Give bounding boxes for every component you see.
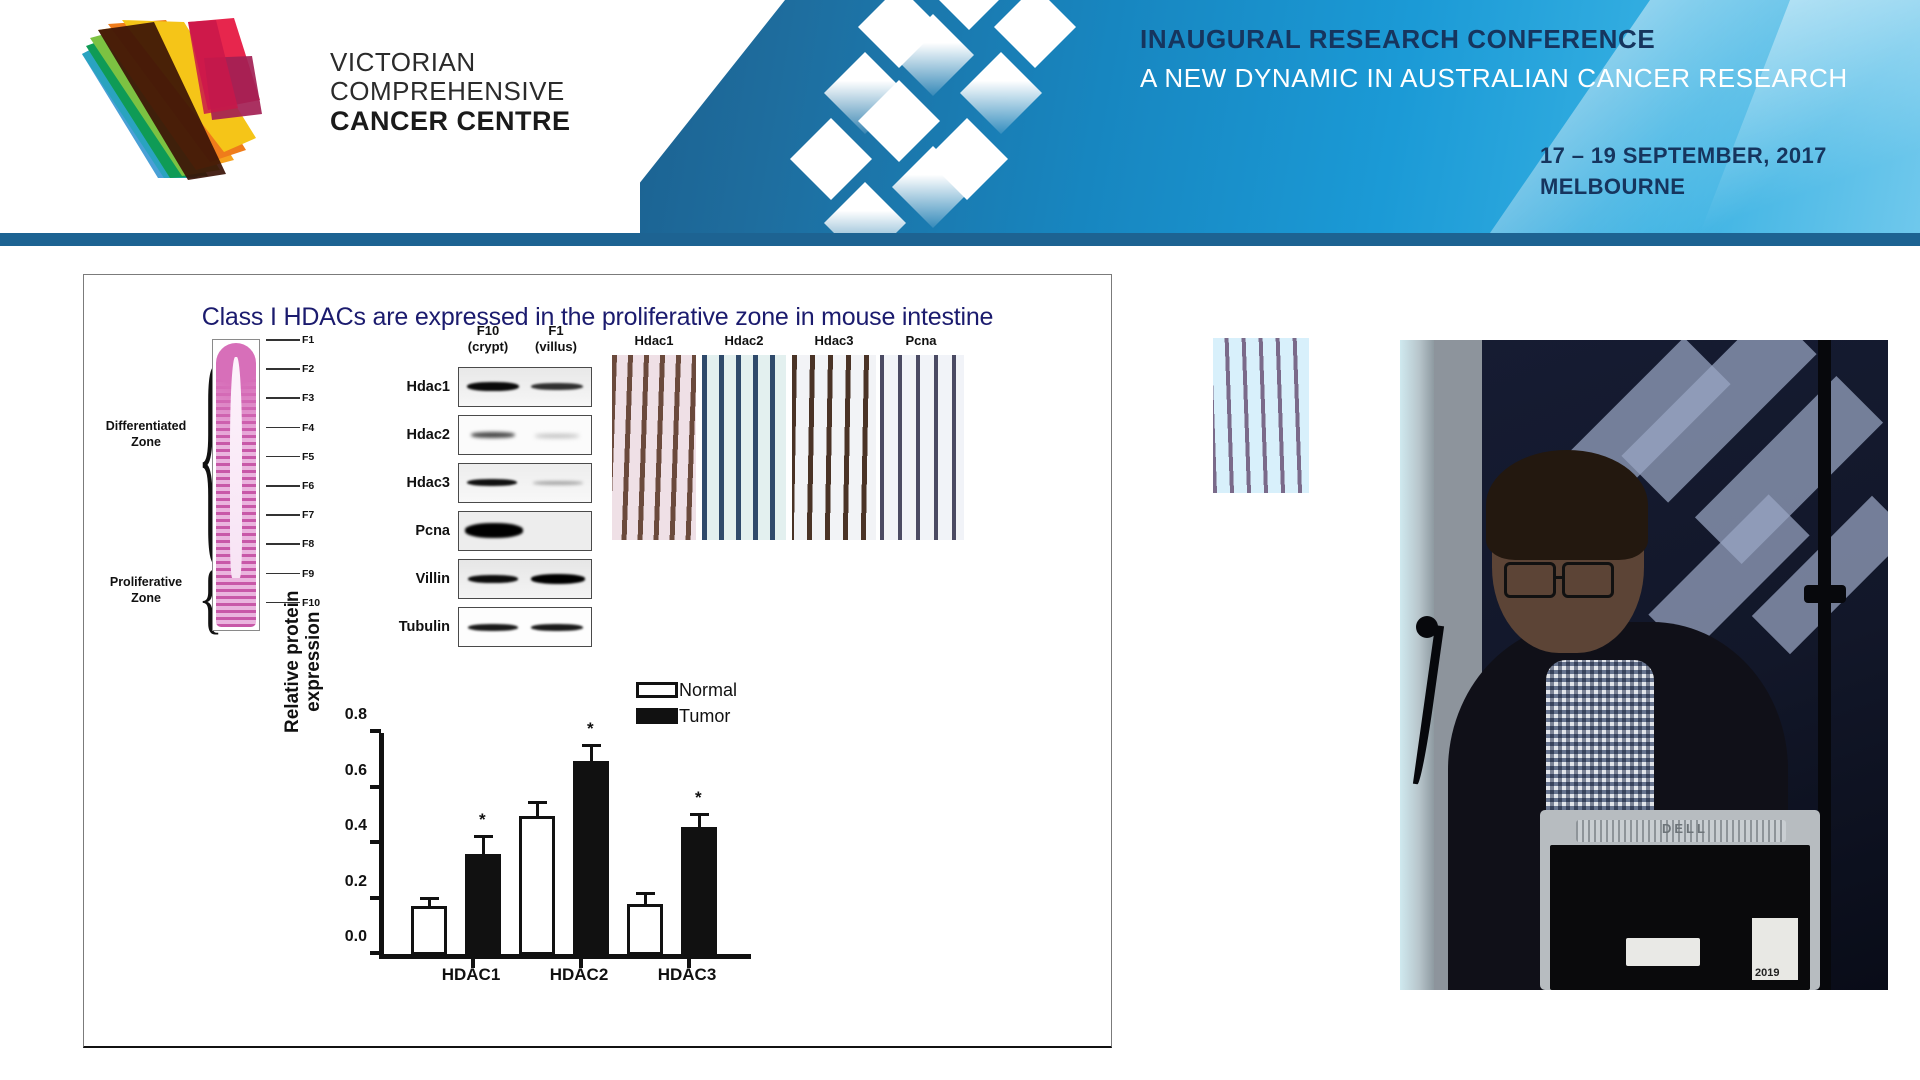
- monitor-stand-label: [1626, 938, 1700, 966]
- error-bar-hdac2-normal: [536, 804, 539, 816]
- x-label-hdac3: HDAC3: [627, 965, 747, 985]
- y-tick-label-4: 0.8: [345, 706, 367, 724]
- livestream-page: VICTORIAN COMPREHENSIVE CANCER CENTRE IN…: [0, 0, 1920, 1080]
- error-bar-hdac3-normal: [644, 895, 647, 903]
- bar-hdac2-normal: [519, 816, 555, 955]
- fraction-row: F6: [266, 485, 324, 514]
- significance-marker-hdac1: *: [479, 811, 486, 828]
- blot-row-hdac3: Hdac3: [362, 463, 592, 505]
- fraction-row: F2: [266, 368, 324, 397]
- panel-bar-chart: Relative protein expression Normal Tumor: [284, 675, 984, 1015]
- y-tick-label-1: 0.2: [345, 873, 367, 891]
- bar-hdac1-tumor: [465, 854, 501, 955]
- legend-swatch-tumor: [636, 708, 678, 724]
- error-cap-hdac1-normal: [420, 897, 439, 900]
- presenter-glasses-bridge: [1556, 576, 1564, 579]
- blot-row-hdac2: Hdac2: [362, 415, 592, 457]
- error-cap-hdac1-tumor: [474, 835, 493, 838]
- proliferative-zone-label: Proliferative Zone: [90, 575, 202, 606]
- significance-marker-hdac3: *: [695, 789, 702, 806]
- blot-row-pcna: Pcna: [362, 511, 592, 553]
- conference-title: INAUGURAL RESEARCH CONFERENCE: [1140, 22, 1848, 57]
- chart-legend: Normal Tumor: [636, 677, 737, 729]
- bar-hdac2-tumor: [573, 761, 609, 955]
- significance-marker-hdac2: *: [587, 720, 594, 737]
- fraction-row: F1: [266, 339, 324, 368]
- panel-western-blot: F10 (crypt) F1 (villus) Hdac1 Hdac2: [362, 323, 592, 653]
- x-label-hdac2: HDAC2: [519, 965, 639, 985]
- chart-y-axis-label: Relative protein expression: [282, 590, 325, 733]
- presenter-video[interactable]: DELL 2019: [1400, 340, 1888, 990]
- ihc-inset-image: [1213, 338, 1309, 493]
- error-cap-hdac3-normal: [636, 892, 655, 895]
- fraction-row: F3: [266, 397, 324, 426]
- chart-y-axis: [379, 733, 384, 955]
- fraction-scale: F1 F2 F3 F4 F5 F6 F7 F8 F9 F10: [266, 339, 324, 631]
- blot-lane-header-f1: F1 (villus): [516, 323, 596, 356]
- conference-date-block: 17 – 19 SEPTEMBER, 2017 MELBOURNE: [1540, 140, 1827, 202]
- intestinal-villus-histology-image: [212, 339, 260, 631]
- conference-dates: 17 – 19 SEPTEMBER, 2017: [1540, 140, 1827, 171]
- y-tick-label-3: 0.6: [345, 762, 367, 780]
- y-tick-4: [370, 729, 381, 733]
- error-bar-hdac2-tumor: [590, 747, 593, 761]
- blot-row-tubulin: Tubulin: [362, 607, 592, 649]
- fraction-row: F5: [266, 456, 324, 485]
- ihc-image-hdac3: [792, 355, 876, 540]
- ihc-label-hdac2: Hdac2: [699, 333, 789, 348]
- dell-logo: DELL: [1662, 821, 1708, 836]
- y-tick-0: [370, 951, 381, 955]
- x-label-hdac1: HDAC1: [411, 965, 531, 985]
- error-cap-hdac2-tumor: [582, 744, 601, 747]
- microphone-capsule: [1416, 616, 1438, 638]
- error-cap-hdac2-normal: [528, 801, 547, 804]
- logo-line-3: CANCER CENTRE: [330, 106, 571, 136]
- sticker-year: 2019: [1755, 967, 1779, 979]
- conference-tagline: A NEW DYNAMIC IN AUSTRALIAN CANCER RESEA…: [1140, 61, 1848, 95]
- banner-diamond-motif: [830, 0, 1150, 233]
- y-tick-label-0: 0.0: [345, 928, 367, 946]
- slide-title: Class I HDACs are expressed in the proli…: [84, 303, 1111, 332]
- legend-item-tumor: Tumor: [636, 703, 737, 729]
- y-tick-2: [370, 840, 381, 844]
- bar-hdac1-normal: [411, 906, 447, 955]
- ihc-image-hdac1: [612, 355, 696, 540]
- blot-row-hdac1: Hdac1: [362, 367, 592, 409]
- bar-hdac3-tumor: [681, 827, 717, 955]
- monitor-asset-sticker: 2019: [1752, 918, 1798, 980]
- logo-line-2: COMPREHENSIVE: [330, 77, 571, 106]
- ihc-label-hdac1: Hdac1: [609, 333, 699, 348]
- bar-hdac3-normal: [627, 904, 663, 955]
- presenter-hair: [1486, 450, 1648, 560]
- legend-label-normal: Normal: [679, 680, 737, 701]
- presenter-glasses-left-lens: [1504, 562, 1556, 598]
- differentiated-zone-label: Differentiated Zone: [90, 419, 202, 450]
- y-tick-1: [370, 896, 381, 900]
- error-bar-hdac1-tumor: [482, 838, 485, 853]
- y-tick-label-2: 0.4: [345, 817, 367, 835]
- banner-bottom-rule: [0, 233, 1920, 246]
- conference-title-block: INAUGURAL RESEARCH CONFERENCE A NEW DYNA…: [1140, 22, 1848, 95]
- y-tick-3: [370, 785, 381, 789]
- chart-plot-area: 0.0 0.2 0.4 0.6 0.8 *** HDAC1 HDAC2 HDAC…: [379, 733, 739, 955]
- legend-label-tumor: Tumor: [679, 706, 730, 727]
- conference-location: MELBOURNE: [1540, 171, 1827, 202]
- ihc-label-hdac3: Hdac3: [789, 333, 879, 348]
- presentation-slide: Class I HDACs are expressed in the proli…: [83, 274, 1112, 1048]
- legend-swatch-normal: [636, 682, 678, 698]
- vccc-wordmark: VICTORIAN COMPREHENSIVE CANCER CENTRE: [330, 48, 571, 136]
- error-bar-hdac1-normal: [428, 900, 431, 907]
- conference-header-banner: VICTORIAN COMPREHENSIVE CANCER CENTRE IN…: [0, 0, 1920, 233]
- ihc-image-hdac2: [702, 355, 786, 540]
- ihc-label-pcna: Pcna: [876, 333, 966, 348]
- legend-item-normal: Normal: [636, 677, 737, 703]
- ihc-image-pcna: [880, 355, 964, 540]
- error-bar-hdac3-tumor: [698, 816, 701, 827]
- vccc-fan-logo: [38, 10, 298, 190]
- error-cap-hdac3-tumor: [690, 813, 709, 816]
- presenter-glasses-right-lens: [1562, 562, 1614, 598]
- fraction-row: F8: [266, 543, 324, 572]
- blot-row-villin: Villin: [362, 559, 592, 601]
- fraction-row: F4: [266, 427, 324, 456]
- microphone-clamp: [1804, 585, 1846, 603]
- fraction-row: F7: [266, 514, 324, 543]
- panel-ihc-micrographs: Hdac1 Hdac2 Hdac3 Pcna: [612, 333, 984, 543]
- logo-line-1: VICTORIAN: [330, 48, 571, 77]
